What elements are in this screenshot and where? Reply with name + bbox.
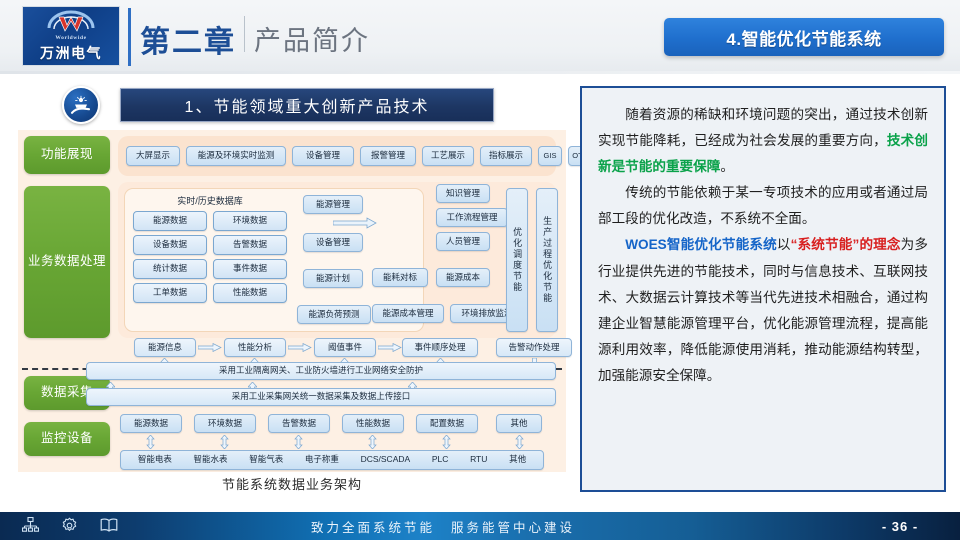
section-title-label: 1、节能领域重大创新产品技术: [185, 93, 430, 117]
bidirectional-arrow-icon: [146, 435, 155, 449]
gear-icon[interactable]: [61, 517, 78, 534]
rail-label: 监控设备: [41, 431, 93, 447]
flow-arrow-icon: [378, 343, 402, 352]
bidirectional-arrow-icon: [368, 435, 377, 449]
database-title: 实时/历史数据库: [125, 194, 295, 207]
hand-energy-icon: [62, 86, 100, 124]
page-subtitle: 产品简介: [254, 19, 370, 58]
topic-badge-label: 4.智能优化节能系统: [726, 25, 881, 50]
p1-part-b: 。: [720, 159, 734, 174]
bidirectional-arrow-icon: [442, 435, 451, 449]
footer-slogan-right: 服务能管中心建设: [451, 521, 575, 535]
device-bar: 智能电表 智能水表 智能气表 电子称重 DCS/SCADA PLC RTU 其他: [120, 450, 544, 470]
db-cell[interactable]: 统计数据: [133, 259, 207, 279]
svc-workflow-mgmt[interactable]: 工作流程管理: [436, 208, 508, 227]
description-panel: 随着资源的稀缺和环境问题的突出，通过技术创新实现节能降耗，已经成为社会发展的重要…: [580, 86, 946, 492]
function-layer-panel: 大屏显示 能源及环境实时监测 设备管理 报警管理 工艺展示 指标展示 GIS O…: [118, 136, 556, 176]
device-rtu[interactable]: RTU: [470, 455, 487, 465]
bidirectional-arrow-icon: [515, 435, 524, 449]
data-other[interactable]: 其他: [496, 414, 542, 433]
svc-energy-cost-mgmt[interactable]: 能源成本管理: [372, 304, 444, 323]
device-water-meter[interactable]: 智能水表: [194, 455, 228, 465]
bar-network-security[interactable]: 采用工业隔离网关、工业防火墙进行工业网络安全防护: [86, 362, 556, 380]
logo-brand-en: Worldwide: [55, 35, 86, 41]
layer-rail-devices: 监控设备: [24, 422, 110, 456]
footer-slogan: 致力全面系统节能服务能管中心建设: [0, 512, 886, 540]
slide-footer: 致力全面系统节能服务能管中心建设 - 36 -: [0, 512, 960, 540]
box-gis[interactable]: GIS: [538, 146, 562, 166]
device-gas-meter[interactable]: 智能气表: [249, 455, 283, 465]
device-dcs-scada[interactable]: DCS/SCADA: [361, 455, 411, 465]
proc-alarm-action[interactable]: 告警动作处理: [496, 338, 572, 357]
p3-part-b: 以: [777, 237, 791, 252]
box-realtime-monitor[interactable]: 能源及环境实时监测: [186, 146, 286, 166]
svc-energy-cost[interactable]: 能源成本: [436, 268, 490, 287]
svc-equipment-mgmt[interactable]: 设备管理: [303, 233, 363, 252]
paragraph-1: 随着资源的稀缺和环境问题的突出，通过技术创新实现节能降耗，已经成为社会发展的重要…: [598, 102, 928, 180]
db-cell[interactable]: 设备数据: [133, 235, 207, 255]
vbox-production-optimization-saving[interactable]: 生产过程优化节能: [536, 188, 558, 332]
box-alarm-mgmt[interactable]: 报警管理: [360, 146, 416, 166]
svc-energy-mgmt[interactable]: 能源管理: [303, 195, 363, 214]
p3-highlight: “系统节能”的理念: [791, 237, 901, 252]
business-layer-panel: 实时/历史数据库 能源数据 环境数据 设备数据 告警数据 统计数据 事件数据 工…: [118, 182, 556, 338]
footer-icon-group: [22, 517, 118, 534]
svc-load-forecast[interactable]: 能源负荷预测: [297, 305, 371, 324]
slide-root: Worldwide 万洲电气 第二章 产品简介 4.智能优化节能系统 1、节能领…: [0, 0, 960, 540]
company-logo: Worldwide 万洲电气: [22, 6, 120, 66]
svc-knowledge-mgmt[interactable]: 知识管理: [436, 184, 490, 203]
page-number: - 36 -: [840, 512, 960, 540]
device-weighing[interactable]: 电子称重: [305, 455, 339, 465]
diagram-caption: 节能系统数据业务架构: [18, 474, 566, 493]
header-rule: [0, 71, 960, 74]
proc-event-sequence[interactable]: 事件顺序处理: [402, 338, 478, 357]
w-emblem-icon: [45, 10, 97, 34]
proc-energy-info[interactable]: 能源信息: [134, 338, 196, 357]
flow-arrow-icon: [333, 217, 377, 229]
device-other[interactable]: 其他: [509, 455, 526, 465]
data-alarm[interactable]: 告警数据: [268, 414, 330, 433]
svc-energy-plan[interactable]: 能源计划: [303, 269, 363, 288]
db-cell[interactable]: 环境数据: [213, 211, 287, 231]
db-cell[interactable]: 性能数据: [213, 283, 287, 303]
footer-slogan-left: 致力全面系统节能: [311, 521, 435, 535]
p3-product-name: WOES智能优化节能系统: [625, 237, 777, 252]
header-divider: [128, 8, 131, 66]
topic-badge: 4.智能优化节能系统: [664, 18, 944, 56]
db-cell[interactable]: 工单数据: [133, 283, 207, 303]
rail-label: 功能展现: [41, 147, 93, 163]
data-performance[interactable]: 性能数据: [342, 414, 404, 433]
section-title-bar: 1、节能领域重大创新产品技术: [120, 88, 494, 122]
proc-threshold-event[interactable]: 阈值事件: [314, 338, 376, 357]
db-cell[interactable]: 能源数据: [133, 211, 207, 231]
data-environment[interactable]: 环境数据: [194, 414, 256, 433]
data-config[interactable]: 配置数据: [416, 414, 478, 433]
p1-part-a: 随着资源的稀缺和环境问题的突出，通过技术创新实现节能降耗，已经成为社会发展的重要…: [598, 107, 928, 148]
paragraph-3: WOES智能优化节能系统以“系统节能”的理念为多行业提供先进的节能技术，同时与信…: [598, 232, 928, 389]
book-icon[interactable]: [100, 517, 118, 534]
page-number-label: - 36 -: [882, 519, 918, 534]
layer-rail-business: 业务数据处理: [24, 186, 110, 338]
db-cell[interactable]: 告警数据: [213, 235, 287, 255]
title-separator: [244, 16, 245, 52]
bar-collection-gateway[interactable]: 采用工业采集网关统一数据采集及数据上传接口: [86, 388, 556, 406]
logo-brand-cn: 万洲电气: [40, 43, 102, 63]
device-plc[interactable]: PLC: [432, 455, 449, 465]
box-indicator-display[interactable]: 指标展示: [480, 146, 532, 166]
db-cell[interactable]: 事件数据: [213, 259, 287, 279]
box-equipment-mgmt[interactable]: 设备管理: [292, 146, 354, 166]
org-chart-icon[interactable]: [22, 517, 39, 534]
data-energy[interactable]: 能源数据: [120, 414, 182, 433]
box-process-display[interactable]: 工艺展示: [422, 146, 474, 166]
architecture-diagram: 功能展现 业务数据处理 数据采集 监控设备 大屏显示 能源及环境实时监测 设备管…: [18, 130, 566, 472]
device-smart-meter[interactable]: 智能电表: [138, 455, 172, 465]
bidirectional-arrow-icon: [294, 435, 303, 449]
flow-arrow-icon: [198, 343, 222, 352]
p3-part-d: 为多行业提供先进的节能技术，同时与信息技术、互联网技术、大数据云计算技术等当代先…: [598, 237, 928, 382]
proc-performance-analysis[interactable]: 性能分析: [224, 338, 286, 357]
bidirectional-arrow-icon: [220, 435, 229, 449]
flow-arrow-icon: [288, 343, 312, 352]
box-big-screen[interactable]: 大屏显示: [126, 146, 180, 166]
layer-rail-function: 功能展现: [24, 136, 110, 174]
rail-label: 业务数据处理: [28, 254, 106, 270]
paragraph-2: 传统的节能依赖于某一专项技术的应用或者通过局部工段的优化改造，不系统不全面。: [598, 180, 928, 232]
vbox-optimal-dispatch-saving[interactable]: 优化调度节能: [506, 188, 528, 332]
chapter-title: 第二章: [140, 17, 236, 61]
svc-energy-benchmark[interactable]: 能耗对标: [372, 268, 428, 287]
svc-personnel-mgmt[interactable]: 人员管理: [436, 232, 490, 251]
